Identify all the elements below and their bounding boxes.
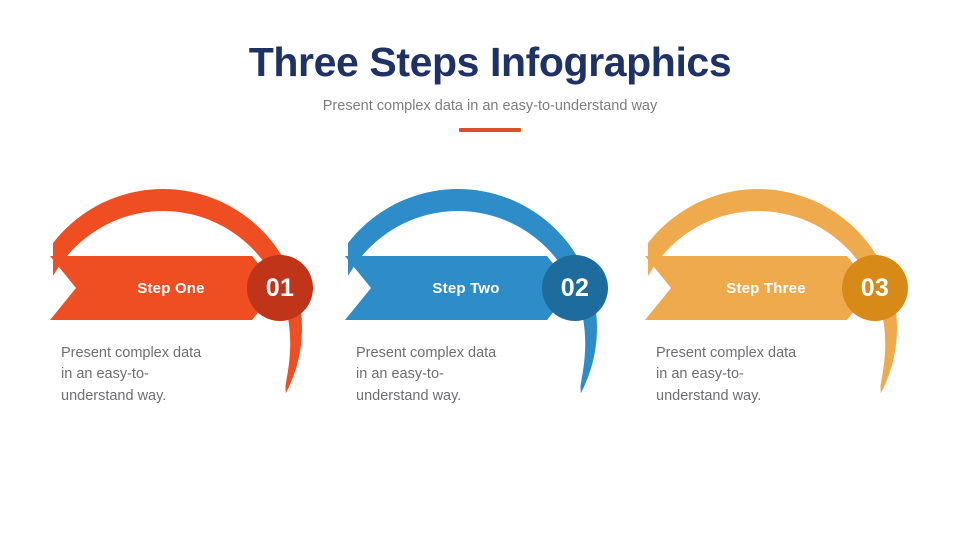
step-number-circle-03[interactable]: 03	[842, 255, 908, 321]
step-ribbon-01[interactable]: Step One	[50, 256, 278, 320]
step-arc-02	[348, 180, 638, 475]
page-title: Three Steps Infographics	[0, 40, 980, 85]
step-group-03: Step Three03Present complex data in an e…	[640, 175, 940, 485]
step-ribbon-03[interactable]: Step Three	[645, 256, 873, 320]
step-number-circle-02[interactable]: 02	[542, 255, 608, 321]
step-number: 01	[266, 274, 295, 303]
step-number-circle-01[interactable]: 01	[247, 255, 313, 321]
step-label: Step One	[123, 280, 204, 297]
step-arc-03	[648, 180, 938, 475]
step-group-01: Step One01Present complex data in an eas…	[45, 175, 345, 485]
step-number: 02	[561, 274, 590, 303]
step-ribbon-02[interactable]: Step Two	[345, 256, 573, 320]
slide-header: Three Steps Infographics Present complex…	[0, 40, 980, 132]
step-arc-01	[53, 180, 343, 475]
step-label: Step Three	[712, 280, 806, 297]
step-label: Step Two	[418, 280, 499, 297]
step-description-02: Present complex data in an easy-to- unde…	[356, 343, 546, 407]
step-group-02: Step Two02Present complex data in an eas…	[340, 175, 640, 485]
page-subtitle: Present complex data in an easy-to-under…	[0, 98, 980, 115]
steps-row: Step One01Present complex data in an eas…	[0, 175, 980, 485]
infographic-slide: Three Steps Infographics Present complex…	[0, 0, 980, 551]
step-description-01: Present complex data in an easy-to- unde…	[61, 343, 251, 407]
step-description-03: Present complex data in an easy-to- unde…	[656, 343, 846, 407]
step-number: 03	[861, 274, 890, 303]
accent-divider	[459, 128, 521, 132]
